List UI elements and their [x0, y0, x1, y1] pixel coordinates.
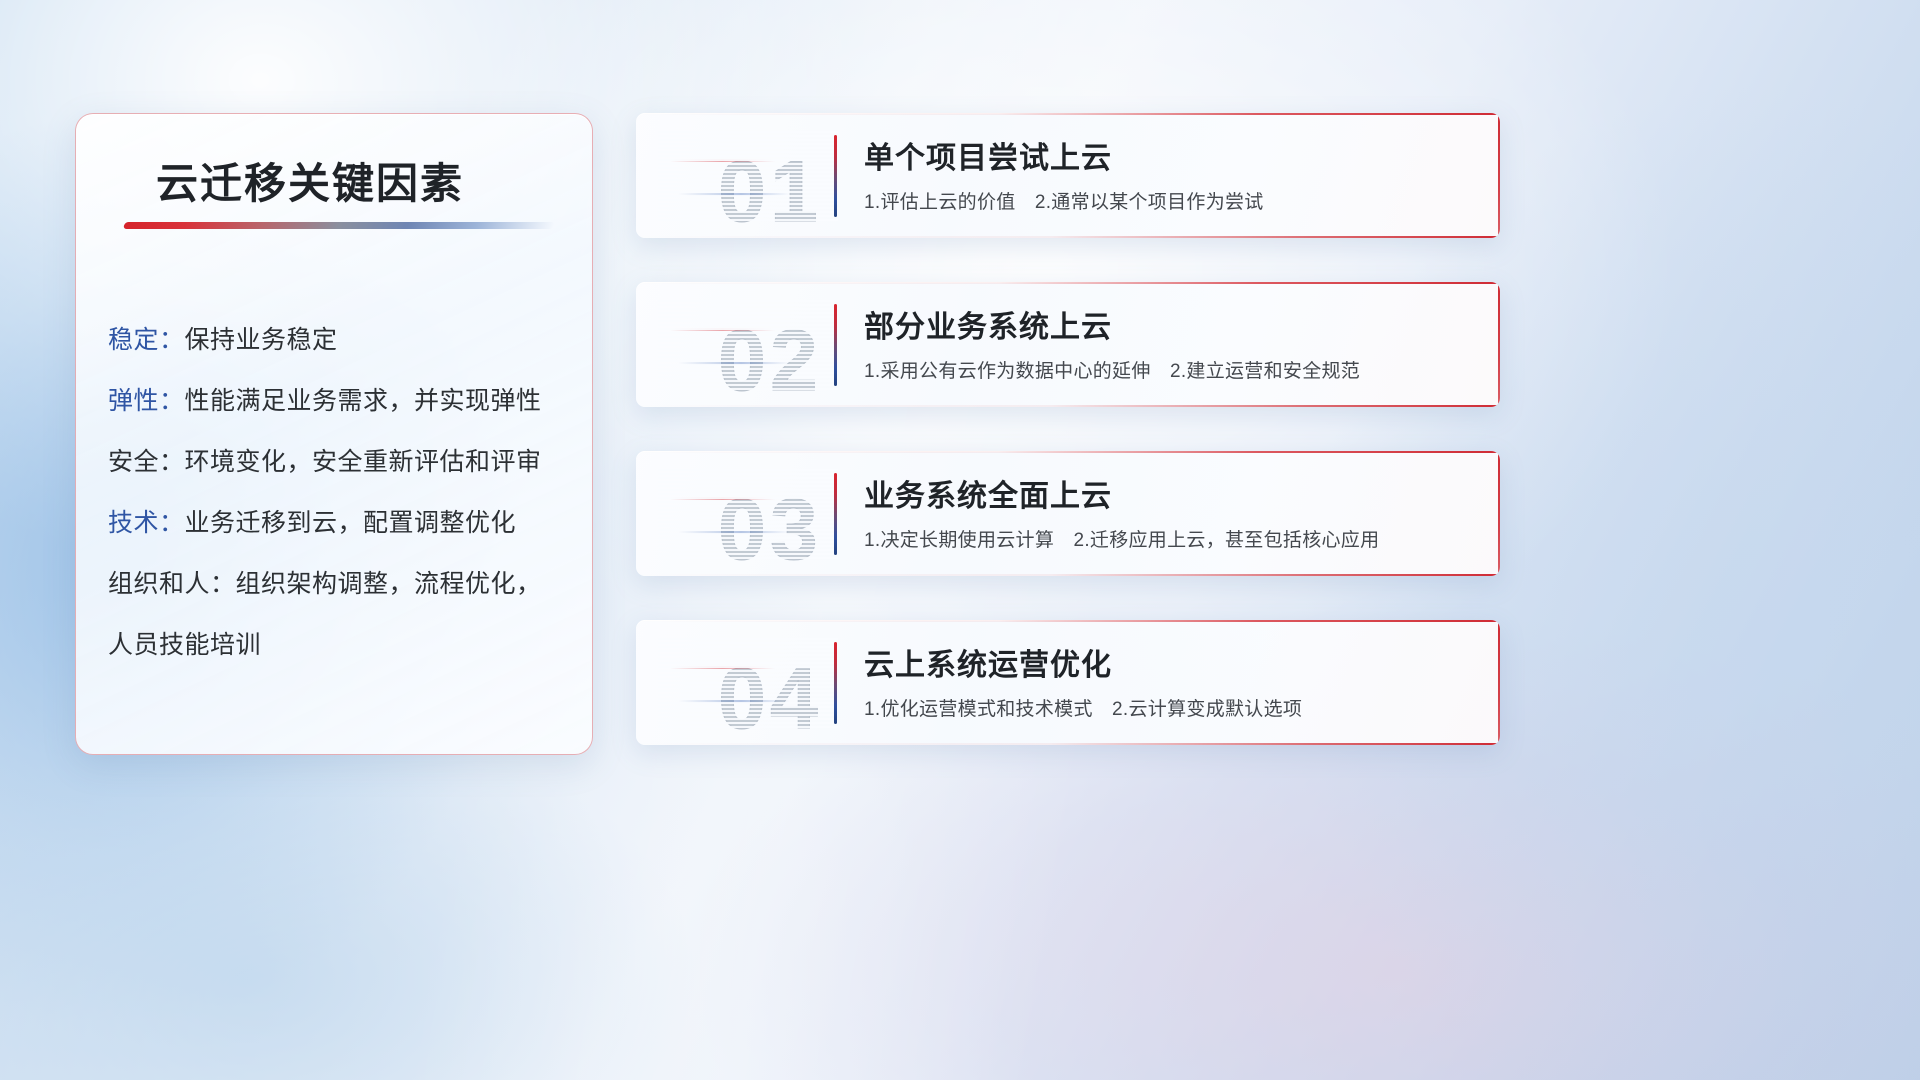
factor-row: 稳定：保持业务稳定 — [108, 310, 568, 371]
card-divider-bar — [834, 473, 837, 555]
factor-row: 人员技能培训 — [108, 615, 568, 676]
factor-label: 技术： — [108, 509, 185, 537]
stage-card[interactable]: 01单个项目尝试上云1.评估上云的价值 2.通常以某个项目作为尝试 — [636, 113, 1500, 238]
factor-label: 组织和人： — [108, 570, 236, 598]
stage-subtitle: 1.评估上云的价值 2.通常以某个项目作为尝试 — [864, 187, 1264, 214]
stage-title: 云上系统运营优化 — [864, 640, 1112, 684]
card-divider-bar — [834, 135, 837, 217]
stage-card[interactable]: 02部分业务系统上云1.采用公有云作为数据中心的延伸 2.建立运营和安全规范 — [636, 282, 1500, 407]
card-top-accent-edge — [636, 113, 1500, 115]
factor-text: 业务迁移到云，配置调整优化 — [185, 509, 517, 537]
stage-subtitle: 1.优化运营模式和技术模式 2.云计算变成默认选项 — [864, 694, 1302, 721]
stage-title: 单个项目尝试上云 — [864, 133, 1112, 177]
card-divider-bar — [834, 304, 837, 386]
stage-number-graphic: 02 — [658, 298, 838, 392]
factor-row: 组织和人：组织架构调整，流程优化， — [108, 554, 568, 615]
stage-number-graphic: 04 — [658, 636, 838, 730]
stage-number-blue-streak — [678, 531, 818, 534]
factor-label: 弹性： — [108, 387, 185, 415]
stage-number-graphic: 01 — [658, 129, 838, 223]
factor-list: 稳定：保持业务稳定弹性：性能满足业务需求，并实现弹性安全：环境变化，安全重新评估… — [108, 310, 568, 676]
factor-row: 技术：业务迁移到云，配置调整优化 — [108, 493, 568, 554]
title-underline-rule — [123, 222, 555, 229]
stage-number-blue-streak — [678, 193, 818, 196]
card-top-accent-edge — [636, 451, 1500, 453]
factor-text: 环境变化，安全重新评估和评审 — [185, 448, 542, 476]
stage-number-red-streak — [670, 328, 820, 331]
factor-label: 稳定： — [108, 326, 185, 354]
stage-number-blue-streak — [678, 362, 818, 365]
card-right-accent-edge — [1498, 620, 1500, 745]
page-title: 云迁移关键因素 — [156, 150, 464, 211]
card-divider-bar — [834, 642, 837, 724]
key-factors-panel: 云迁移关键因素 稳定：保持业务稳定弹性：性能满足业务需求，并实现弹性安全：环境变… — [75, 113, 593, 755]
factor-row: 安全：环境变化，安全重新评估和评审 — [108, 432, 568, 493]
card-right-accent-edge — [1498, 451, 1500, 576]
factor-label: 安全： — [108, 448, 185, 476]
stage-card[interactable]: 03业务系统全面上云1.决定长期使用云计算 2.迁移应用上云，甚至包括核心应用 — [636, 451, 1500, 576]
stage-card[interactable]: 04云上系统运营优化1.优化运营模式和技术模式 2.云计算变成默认选项 — [636, 620, 1500, 745]
stage-number-blue-streak — [678, 700, 818, 703]
stage-number-red-streak — [670, 159, 820, 162]
factor-text: 保持业务稳定 — [185, 326, 338, 354]
factor-row: 弹性：性能满足业务需求，并实现弹性 — [108, 371, 568, 432]
stage-title: 业务系统全面上云 — [864, 471, 1112, 515]
card-top-accent-edge — [636, 620, 1500, 622]
stage-number-red-streak — [670, 497, 820, 500]
factor-text: 人员技能培训 — [108, 631, 261, 659]
factor-text: 性能满足业务需求，并实现弹性 — [185, 387, 542, 415]
stage-subtitle: 1.采用公有云作为数据中心的延伸 2.建立运营和安全规范 — [864, 356, 1360, 383]
stage-title: 部分业务系统上云 — [864, 302, 1112, 346]
card-top-accent-edge — [636, 282, 1500, 284]
stage-card-list: 01单个项目尝试上云1.评估上云的价值 2.通常以某个项目作为尝试02部分业务系… — [636, 113, 1500, 789]
card-right-accent-edge — [1498, 113, 1500, 238]
stage-number-red-streak — [670, 666, 820, 669]
stage-subtitle: 1.决定长期使用云计算 2.迁移应用上云，甚至包括核心应用 — [864, 525, 1379, 552]
factor-text: 组织架构调整，流程优化， — [236, 570, 542, 598]
card-right-accent-edge — [1498, 282, 1500, 407]
stage-number-graphic: 03 — [658, 467, 838, 561]
